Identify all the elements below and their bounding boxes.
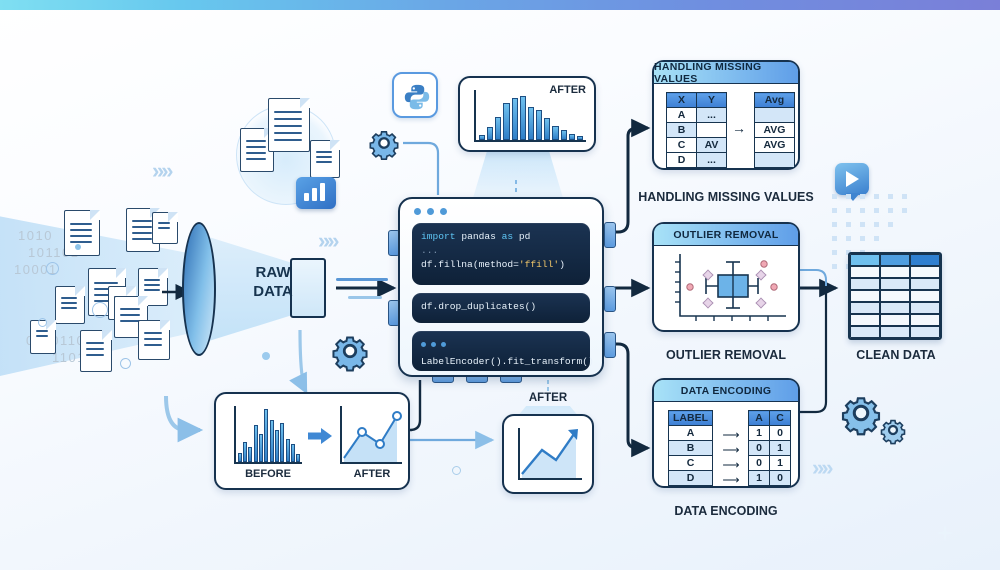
table-cell: [755, 108, 795, 123]
table-cell: ...: [697, 108, 727, 123]
data-encoding-onehot-table: AC10010110: [748, 410, 791, 486]
clean-data-cell: [880, 254, 910, 266]
document-icon: [138, 320, 170, 360]
histogram-bar: [512, 98, 518, 140]
chevron-decor-icon: »»: [318, 228, 336, 254]
missing-values-result-table: Avg AVGAVG: [754, 92, 795, 168]
table-row: A: [669, 426, 713, 441]
table-cell: 1: [770, 456, 791, 471]
clean-data-cell: [910, 290, 940, 302]
clean-data-cell: [880, 326, 910, 338]
top-gradient-bar: [0, 0, 1000, 10]
data-encoding-caption: DATA ENCODING: [650, 504, 802, 518]
flow-line-decor: [348, 296, 382, 299]
before-label: BEFORE: [226, 468, 310, 480]
histogram-bar: [286, 439, 290, 462]
clean-data-cell: [850, 302, 880, 314]
histogram-bar: [544, 118, 550, 140]
encoding-arrow: ⟶: [716, 473, 746, 488]
document-icon: [80, 330, 112, 372]
table-cell: 0: [749, 456, 770, 471]
histogram-bar: [495, 117, 501, 140]
table-row: [755, 153, 795, 168]
histogram-bar: [238, 453, 242, 462]
histogram-bar: [243, 442, 247, 462]
histogram-bar: [503, 103, 509, 140]
python-logo-icon[interactable]: [392, 72, 438, 118]
histogram-bar: [479, 135, 485, 140]
table-cell: D: [667, 153, 697, 168]
table-row: 01: [749, 441, 791, 456]
code-block-drop-duplicates[interactable]: df.drop_duplicates(): [412, 293, 590, 323]
clean-data-cell: [880, 266, 910, 278]
table-cell: 0: [749, 441, 770, 456]
table-cell: C: [667, 138, 697, 153]
mapping-arrow: →: [732, 120, 746, 136]
table-row: D: [669, 471, 713, 486]
data-encoding-label-table: LABELABCD: [668, 410, 713, 486]
table-cell: A: [669, 426, 713, 441]
table-row: D...: [667, 153, 727, 168]
histogram-bar: [254, 425, 258, 462]
table-cell: D: [669, 471, 713, 486]
table-cell: B: [667, 123, 697, 138]
table-cell: B: [669, 441, 713, 456]
histogram-bar: [569, 134, 575, 140]
document-icon: [64, 210, 100, 256]
histogram-bar: [248, 447, 252, 462]
code-port-right: [604, 286, 616, 312]
table-cell: 1: [749, 471, 770, 486]
before-histogram-bars: [237, 408, 301, 462]
table-row: CAV: [667, 138, 727, 153]
clean-data-cell: [880, 278, 910, 290]
gear-left-icon: [327, 328, 373, 374]
after-line-chart: [340, 406, 402, 464]
table-header-cell: LABEL: [669, 411, 713, 426]
clean-data-cell: [910, 314, 940, 326]
encoding-arrow-group: ⟶⟶⟶⟶: [716, 428, 746, 488]
handling-missing-values-panel[interactable]: HANDLING MISSING VALUES XYA...BCAVD... →…: [652, 60, 800, 170]
outlier-removal-caption: OUTLIER REMOVAL: [650, 348, 802, 362]
table-header-cell: X: [667, 93, 697, 108]
clean-data-cell: [880, 302, 910, 314]
boxplot-chart: [662, 250, 794, 330]
table-row: B: [669, 441, 713, 456]
panel-header: HANDLING MISSING VALUES: [654, 62, 798, 84]
histogram-bar: [264, 409, 268, 462]
table-header-cell: Avg: [755, 93, 795, 108]
after-trend-label: AFTER: [498, 392, 598, 404]
table-cell: 1: [770, 441, 791, 456]
histogram-bar: [270, 420, 274, 462]
clean-data-cell: [850, 290, 880, 302]
encoding-arrow: ⟶: [716, 443, 746, 458]
encoding-arrow: ⟶: [716, 458, 746, 473]
table-cell: C: [669, 456, 713, 471]
code-editor-window[interactable]: import pandas as pd...df.fillna(method='…: [398, 197, 604, 377]
table-cell: AVG: [755, 123, 795, 138]
before-after-panel[interactable]: BEFORE AFTER: [214, 392, 410, 490]
code-block-fillna[interactable]: import pandas as pd...df.fillna(method='…: [412, 223, 590, 285]
table-row: 10: [749, 471, 791, 486]
table-header-cell: C: [770, 411, 791, 426]
clean-data-cell: [880, 290, 910, 302]
document-icon: [152, 212, 178, 244]
code-port-right: [604, 332, 616, 358]
table-cell: 1: [749, 426, 770, 441]
clean-data-cell: [850, 326, 880, 338]
cluster-document-icon: [310, 140, 340, 178]
histogram-bar: [577, 136, 583, 140]
after-histogram-bars: [478, 92, 584, 140]
cluster-document-icon: [268, 98, 310, 152]
histogram-bar: [536, 110, 542, 140]
chevron-decor-icon: »»: [812, 455, 830, 481]
table-cell: ...: [697, 153, 727, 168]
clean-data-cell: [910, 278, 940, 290]
table-row: [755, 108, 795, 123]
funnel-label-line1: RAW: [228, 264, 318, 283]
table-header-cell: A: [749, 411, 770, 426]
gear-right-small-icon: [877, 414, 909, 446]
table-row: C: [669, 456, 713, 471]
after-label: AFTER: [334, 468, 410, 480]
table-cell: [697, 123, 727, 138]
table-cell: [755, 153, 795, 168]
table-cell: A: [667, 108, 697, 123]
histogram-bar: [280, 423, 284, 462]
histogram-bar: [552, 126, 558, 140]
table-row: 01: [749, 456, 791, 471]
after-histogram-panel[interactable]: AFTER: [458, 76, 596, 152]
clean-data-cell: [850, 314, 880, 326]
outlier-removal-panel[interactable]: OUTLIER REMOVAL: [652, 222, 800, 332]
table-row: AVG: [755, 123, 795, 138]
clean-data-cell: [910, 326, 940, 338]
clean-data-cell: [910, 302, 940, 314]
clean-data-caption: CLEAN DATA: [838, 348, 954, 362]
clean-data-cell: [850, 278, 880, 290]
histogram-bar: [296, 454, 300, 462]
clean-data-cell: [850, 254, 880, 266]
infographic-canvas: 1010 101101 10001 01101101 1101: [0, 0, 1000, 570]
sparkle-decor-icon: [936, 524, 954, 542]
table-cell: 0: [770, 471, 791, 486]
after-trend-panel[interactable]: [502, 414, 594, 494]
table-row: 10: [749, 426, 791, 441]
flow-line-decor: [336, 278, 388, 281]
code-port-right: [604, 222, 616, 248]
bar-chart-icon: [296, 177, 336, 209]
table-row: B: [667, 123, 727, 138]
histogram-bar: [561, 130, 567, 140]
clean-data-cell: [910, 266, 940, 278]
table-row: AVG: [755, 138, 795, 153]
histogram-bar: [520, 96, 526, 140]
handling-missing-values-caption: HANDLING MISSING VALUES: [636, 190, 816, 204]
code-block-label-encoder[interactable]: LabelEncoder().fit_transform(): [412, 331, 590, 371]
table-cell: AVG: [755, 138, 795, 153]
funnel-label-line2: DATA: [228, 283, 318, 302]
histogram-bar: [487, 127, 493, 140]
panel-header: DATA ENCODING: [654, 380, 798, 402]
table-cell: AV: [697, 138, 727, 153]
clean-data-cell: [880, 314, 910, 326]
histogram-bar: [528, 107, 534, 140]
chevron-decor-icon: »»: [152, 158, 170, 184]
gear-top-icon: [365, 124, 403, 162]
trend-line-chart: [518, 426, 584, 480]
document-icon: [55, 286, 85, 324]
transform-arrow-icon: [308, 426, 334, 446]
missing-values-source-table: XYA...BCAVD...: [666, 92, 727, 168]
histogram-bar: [275, 430, 279, 462]
encoding-arrow: ⟶: [716, 428, 746, 443]
histogram-bar: [259, 434, 263, 462]
clean-data-table[interactable]: [848, 252, 942, 340]
clean-data-cell: [910, 254, 940, 266]
table-header-cell: Y: [697, 93, 727, 108]
table-cell: 0: [770, 426, 791, 441]
histogram-bar: [291, 444, 295, 462]
clean-data-cell: [850, 266, 880, 278]
table-row: A...: [667, 108, 727, 123]
data-encoding-panel[interactable]: DATA ENCODING LABELABCD ⟶⟶⟶⟶ AC10010110: [652, 378, 800, 488]
panel-header: OUTLIER REMOVAL: [654, 224, 798, 246]
